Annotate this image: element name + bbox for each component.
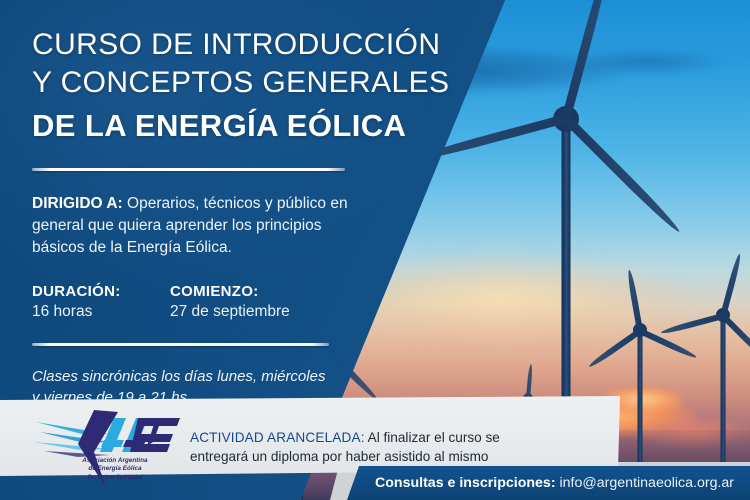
title-line-2: Y CONCEPTOS GENERALES — [32, 64, 460, 102]
contact-label: Consultas e inscripciones: — [375, 475, 556, 491]
logo-line-2: de Energía Eólica — [88, 465, 141, 472]
aaee-logo-subtitle: Asociación Argentina de Energía Eólica D… — [56, 457, 174, 482]
fee-highlight: ACTIVIDAD ARANCELADA: — [190, 430, 365, 445]
poster-canvas: CURSO DE INTRODUCCIÓN Y CONCEPTOS GENERA… — [0, 0, 750, 500]
contact-text: Consultas e inscripciones: info@argentin… — [375, 475, 734, 491]
logo-line-3: Dr. Erico Spinadel — [88, 474, 143, 481]
start-label: COMIENZO: — [170, 283, 290, 300]
poster-content: CURSO DE INTRODUCCIÓN Y CONCEPTOS GENERA… — [0, 0, 460, 408]
contact-email[interactable]: info@argentinaeolica.org.ar — [560, 475, 735, 491]
duration-label: DURACIÓN: — [32, 283, 142, 300]
title-line-1: CURSO DE INTRODUCCIÓN — [32, 0, 460, 64]
contact-bar[interactable]: Consultas e inscripciones: info@argentin… — [347, 466, 750, 500]
duration-value: 16 horas — [32, 303, 142, 321]
divider-top — [32, 168, 345, 171]
audience-paragraph: DIRIGIDO A: Operarios, técnicos y públic… — [32, 193, 362, 259]
title-line-3: DE LA ENERGÍA EÓLICA — [32, 102, 460, 146]
logo-line-1: Asociación Argentina — [82, 457, 147, 464]
page-title: CURSO DE INTRODUCCIÓN Y CONCEPTOS GENERA… — [0, 0, 460, 146]
divider-bottom — [32, 343, 329, 346]
duration-block: DURACIÓN: 16 horas — [32, 283, 142, 321]
start-block: COMIENZO: 27 de septiembre — [170, 283, 290, 321]
turbine-mast — [562, 118, 571, 418]
start-value: 27 de septiembre — [170, 303, 290, 321]
fee-paragraph: ACTIVIDAD ARANCELADA: Al finalizar el cu… — [190, 428, 520, 466]
logo-monogram — [100, 418, 180, 452]
audience-label: DIRIGIDO A: — [32, 195, 123, 212]
course-meta: DURACIÓN: 16 horas COMIENZO: 27 de septi… — [32, 283, 460, 321]
